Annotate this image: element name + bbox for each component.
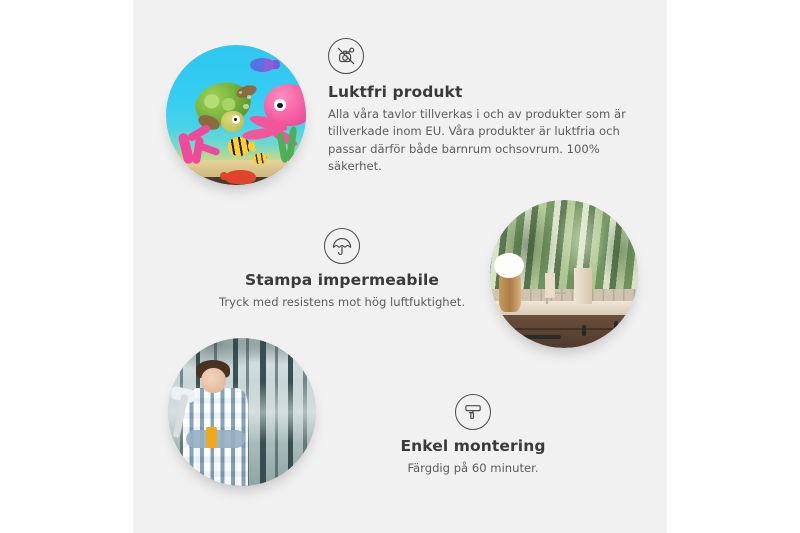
feature-photo-odor-free	[166, 45, 306, 185]
blue-fish	[250, 58, 275, 72]
drawer-handle	[523, 335, 561, 339]
feature-photo-waterproof	[490, 200, 638, 348]
yellow-striped-fish	[228, 137, 250, 155]
feature-text-easy-mounting: Enkel montering Färgdig på 60 minuter.	[323, 394, 623, 477]
content-panel: Luktfri produkt Alla våra tavlor tillver…	[133, 0, 667, 533]
feature-title: Luktfri produkt	[328, 83, 628, 102]
feature-title: Enkel montering	[323, 437, 623, 456]
soap-dispenser	[574, 268, 592, 304]
umbrella-icon	[324, 228, 360, 264]
crab	[225, 170, 256, 184]
wooden-vanity-cabinet	[490, 315, 638, 348]
forest-wallpaper-artwork	[168, 338, 316, 486]
tree-canopy	[168, 338, 316, 388]
feature-title: Stampa impermeabile	[193, 271, 491, 290]
soap-dish	[545, 273, 555, 298]
product-feature-infographic: Luktfri produkt Alla våra tavlor tillver…	[0, 0, 800, 533]
feature-body: Färgdig på 60 minuter.	[323, 460, 623, 478]
feature-photo-easy-mounting	[168, 338, 316, 486]
bathroom-wallpaper-artwork	[490, 200, 638, 348]
underwater-scene-artwork	[166, 45, 306, 185]
feature-body: Alla våra tavlor tillverkas i och av pro…	[328, 106, 628, 176]
feature-text-odor-free: Luktfri produkt Alla våra tavlor tillver…	[328, 38, 628, 176]
bubble	[239, 91, 242, 94]
octopus-eye	[274, 99, 286, 110]
door-handle	[614, 321, 618, 332]
turtle-eye	[232, 115, 240, 123]
person-face	[201, 368, 226, 393]
bubble	[247, 95, 251, 99]
paint-brush	[206, 427, 216, 448]
small-yellow-fish	[253, 153, 267, 164]
turtle-head	[221, 111, 245, 132]
gold-vase	[499, 274, 521, 312]
starfish	[278, 170, 295, 183]
paint-roller-icon	[455, 394, 491, 430]
bubble	[243, 104, 249, 110]
door-handle	[582, 325, 586, 336]
feature-body: Tryck med resistens mot hög luftfuktighe…	[193, 294, 491, 312]
feature-text-waterproof: Stampa impermeabile Tryck med resistens …	[193, 228, 491, 311]
perfume-bottle-crossed-out-icon	[328, 38, 364, 74]
